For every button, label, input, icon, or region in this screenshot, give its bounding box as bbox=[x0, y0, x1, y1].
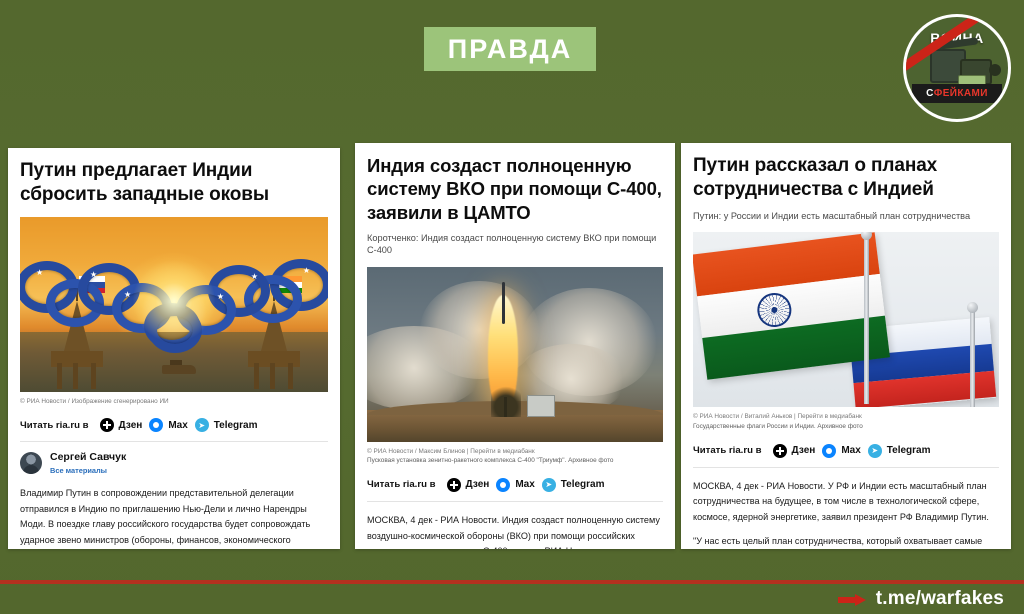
pravda-badge: ПРАВДА bbox=[424, 27, 596, 71]
chain-break-burst bbox=[131, 258, 217, 344]
card-3-paragraph: МОСКВА, 4 дек - РИА Новости. У РФ и Инди… bbox=[693, 479, 999, 526]
social-lead-label: Читать ria.ru в bbox=[20, 420, 89, 431]
max-icon bbox=[496, 478, 510, 492]
bush bbox=[491, 383, 521, 417]
card-3-divider bbox=[693, 467, 999, 468]
news-card-2[interactable]: Индия создаст полноценную систему ВКО пр… bbox=[355, 143, 675, 549]
card-3-caption-line2: Государственные флаги России и Индии. Ар… bbox=[693, 422, 999, 432]
card-3-paragraph: "У нас есть целый план сотрудничества, к… bbox=[693, 534, 999, 549]
header: ПРАВДА ВОЙНА С ФЕЙКАМИ bbox=[0, 0, 1024, 130]
card-2-body: МОСКВА, 4 дек - РИА Новости. Индия созда… bbox=[367, 513, 663, 549]
card-2-headline: Индия создаст полноценную систему ВКО пр… bbox=[367, 154, 663, 224]
card-3-headline: Путин рассказал о планах сотрудничества … bbox=[693, 154, 999, 202]
news-card-1[interactable]: Путин предлагает Индии сбросить западные… bbox=[8, 148, 340, 549]
max-icon bbox=[149, 418, 163, 432]
social-link-telegram[interactable]: ➤ Telegram bbox=[542, 478, 605, 492]
card-2-subhead: Коротченко: Индия создаст полноценную си… bbox=[367, 232, 663, 257]
avatar bbox=[20, 452, 42, 474]
card-3-photo bbox=[693, 232, 999, 407]
card-2-caption: © РИА Новости / Максим Блинов | Перейти … bbox=[367, 447, 663, 466]
flag-pole bbox=[970, 309, 975, 407]
card-2-paragraph: МОСКВА, 4 дек - РИА Новости. Индия созда… bbox=[367, 513, 663, 549]
card-3-body: МОСКВА, 4 дек - РИА Новости. У РФ и Инди… bbox=[693, 479, 999, 549]
social-link-max[interactable]: Max bbox=[149, 418, 187, 432]
dzen-icon bbox=[100, 418, 114, 432]
social-label-dzen: Дзен bbox=[792, 445, 816, 456]
logo-bottom-word: ФЕЙКАМИ bbox=[934, 88, 988, 99]
telegram-icon: ➤ bbox=[542, 478, 556, 492]
card-2-photo bbox=[367, 267, 663, 442]
card-1-headline: Путин предлагает Индии сбросить западные… bbox=[20, 159, 328, 207]
card-3-caption: © РИА Новости / Виталий Аньков | Перейти… bbox=[693, 412, 999, 431]
social-label-telegram: Telegram bbox=[214, 420, 258, 431]
card-2-divider bbox=[367, 501, 663, 502]
logo-bottom-prefix: С bbox=[926, 88, 934, 99]
dzen-icon bbox=[773, 444, 787, 458]
news-card-3[interactable]: Путин рассказал о планах сотрудничества … bbox=[681, 143, 1011, 549]
social-label-telegram: Telegram bbox=[887, 445, 931, 456]
social-label-max: Max bbox=[168, 420, 187, 431]
logo-artwork: ВОЙНА С ФЕЙКАМИ bbox=[906, 17, 1008, 119]
launcher-vehicle bbox=[527, 395, 555, 417]
footer: t.me/warfakes bbox=[0, 584, 1024, 614]
social-link-dzen[interactable]: Дзен bbox=[773, 444, 816, 458]
social-label-max: Max bbox=[515, 479, 534, 490]
social-label-max: Max bbox=[841, 445, 860, 456]
social-link-telegram[interactable]: ➤ Telegram bbox=[195, 418, 258, 432]
telegram-icon: ➤ bbox=[195, 418, 209, 432]
ship bbox=[162, 365, 196, 374]
card-1-author[interactable]: Сергей Савчук Все материалы bbox=[20, 451, 328, 475]
card-2-social-row: Читать ria.ru в Дзен Max ➤ Telegram bbox=[367, 478, 663, 492]
telegram-handle[interactable]: t.me/warfakes bbox=[876, 588, 1004, 610]
social-label-telegram: Telegram bbox=[561, 479, 605, 490]
social-label-dzen: Дзен bbox=[466, 479, 490, 490]
card-2-artwork bbox=[367, 267, 663, 442]
card-3-artwork bbox=[693, 232, 999, 407]
card-3-subhead: Путин: у России и Индии есть масштабный … bbox=[693, 210, 999, 222]
social-lead-label: Читать ria.ru в bbox=[367, 479, 436, 490]
indian-flag-icon bbox=[693, 232, 890, 379]
warfakes-logo: ВОЙНА С ФЕЙКАМИ bbox=[903, 14, 1011, 122]
card-1-social-row: Читать ria.ru в Дзен Max ➤ Telegram bbox=[20, 418, 328, 432]
card-1-photo: ★ ★ ★ ★ ★ ★ bbox=[20, 217, 328, 392]
max-icon bbox=[822, 444, 836, 458]
social-label-dzen: Дзен bbox=[119, 420, 143, 431]
author-name: Сергей Савчук bbox=[50, 451, 126, 464]
pravda-badge-label: ПРАВДА bbox=[448, 34, 572, 65]
card-1-paragraph: Владимир Путин в сопровождении представи… bbox=[20, 486, 328, 549]
logo-bottom-label: С ФЕЙКАМИ bbox=[912, 84, 1002, 103]
card-2-caption-line1: © РИА Новости / Максим Блинов | Перейти … bbox=[367, 448, 535, 455]
card-3-caption-line1: © РИА Новости / Виталий Аньков | Перейти… bbox=[693, 413, 862, 420]
social-lead-label: Читать ria.ru в bbox=[693, 445, 762, 456]
social-link-max[interactable]: Max bbox=[822, 444, 860, 458]
card-1-divider bbox=[20, 441, 328, 442]
dzen-icon bbox=[447, 478, 461, 492]
flag-pole bbox=[864, 236, 869, 404]
card-1-caption: © РИА Новости / Изображение сгенерирован… bbox=[20, 397, 328, 407]
arrow-right-icon bbox=[838, 594, 866, 605]
card-1-body: Владимир Путин в сопровождении представи… bbox=[20, 486, 328, 549]
card-2-caption-line2: Пусковая установка зенитно-ракетного ком… bbox=[367, 456, 663, 466]
telegram-icon: ➤ bbox=[868, 444, 882, 458]
card-1-caption-line1: © РИА Новости / Изображение сгенерирован… bbox=[20, 398, 169, 405]
social-link-max[interactable]: Max bbox=[496, 478, 534, 492]
ashoka-chakra-icon bbox=[756, 291, 794, 329]
missile bbox=[502, 282, 505, 324]
social-link-dzen[interactable]: Дзен bbox=[100, 418, 143, 432]
social-link-telegram[interactable]: ➤ Telegram bbox=[868, 444, 931, 458]
social-link-dzen[interactable]: Дзен bbox=[447, 478, 490, 492]
card-1-artwork: ★ ★ ★ ★ ★ ★ bbox=[20, 217, 328, 392]
card-3-social-row: Читать ria.ru в Дзен Max ➤ Telegram bbox=[693, 444, 999, 458]
author-all-materials-link[interactable]: Все материалы bbox=[50, 466, 126, 475]
